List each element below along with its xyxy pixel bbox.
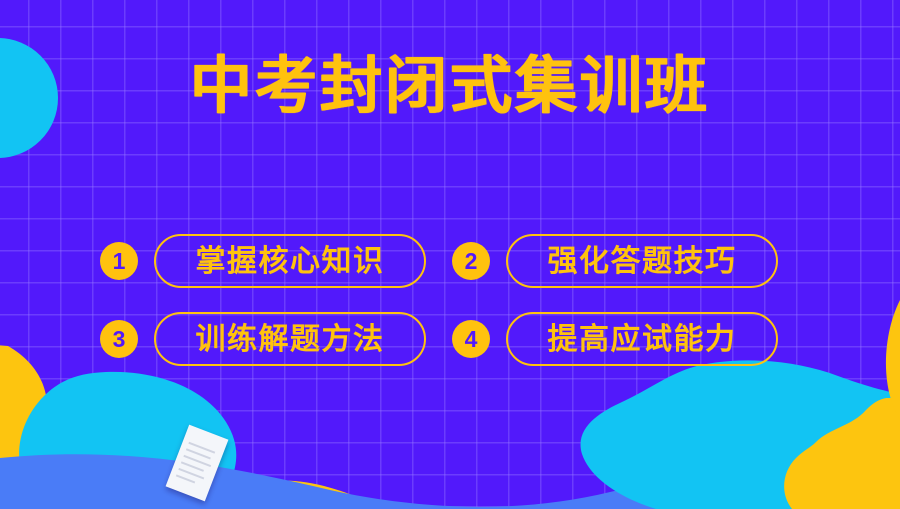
feature-list: 1 掌握核心知识 2 强化答题技巧 3 训练解题方法 4 提高应试能力 xyxy=(100,222,804,378)
feature-pill-2[interactable]: 强化答题技巧 xyxy=(506,234,778,288)
feature-number-badge-1: 1 xyxy=(100,242,138,280)
feature-number-badge-3: 3 xyxy=(100,320,138,358)
feature-item-4[interactable]: 4 提高应试能力 xyxy=(452,300,804,378)
feature-number-badge-2: 2 xyxy=(452,242,490,280)
feature-pill-4[interactable]: 提高应试能力 xyxy=(506,312,778,366)
yellow-edge-accent xyxy=(876,300,900,420)
paper-sheet-decoration xyxy=(166,425,229,502)
feature-pill-1[interactable]: 掌握核心知识 xyxy=(154,234,426,288)
feature-item-2[interactable]: 2 强化答题技巧 xyxy=(452,222,804,300)
promo-poster: 中考封闭式集训班 1 掌握核心知识 2 强化答题技巧 3 训练解题方法 4 提高… xyxy=(0,0,900,509)
cyan-blob-decoration-right xyxy=(560,360,900,509)
feature-item-1[interactable]: 1 掌握核心知识 xyxy=(100,222,452,300)
blue-wave-decoration xyxy=(0,438,900,509)
feature-pill-3[interactable]: 训练解题方法 xyxy=(154,312,426,366)
page-title: 中考封闭式集训班 xyxy=(0,52,900,122)
feature-number-badge-4: 4 xyxy=(452,320,490,358)
yellow-blob-decoration-right xyxy=(752,398,900,509)
feature-item-3[interactable]: 3 训练解题方法 xyxy=(100,300,452,378)
